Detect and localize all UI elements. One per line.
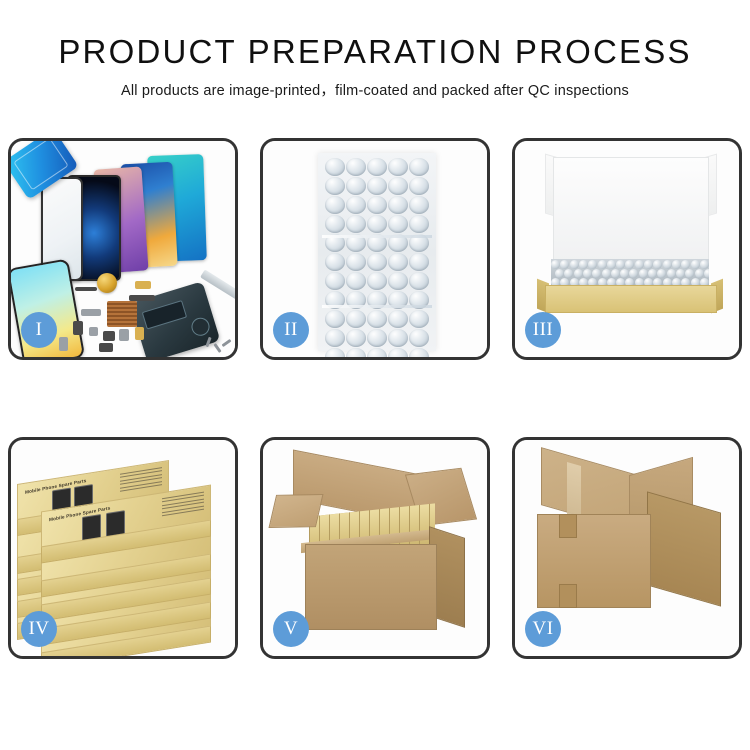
part-bracket: [81, 309, 101, 316]
page-subtitle: All products are image-printed，film-coat…: [0, 79, 750, 100]
part-vibrator: [99, 343, 113, 352]
part-camera-module: [119, 329, 129, 341]
part-strip: [75, 287, 97, 291]
part-connector-a: [73, 321, 83, 335]
step-badge-4: IV: [21, 611, 57, 647]
pouch-seam-bottom: [322, 305, 432, 308]
bubble-wrap-pouch: [318, 153, 436, 351]
pouch-seam-top: [322, 235, 432, 238]
step-panel-1: I: [8, 138, 238, 360]
carton-tab-bottom: [559, 584, 577, 608]
step-badge-1: I: [21, 312, 57, 348]
box-lid-back: [553, 157, 709, 263]
step-image-bubble-wrap: II: [263, 141, 487, 357]
part-connector-c: [103, 331, 115, 341]
part-shield-mesh: [107, 301, 137, 327]
step-panel-3: III: [512, 138, 742, 360]
spec-lines-2: [162, 492, 204, 519]
carton-flap-left: [268, 494, 323, 528]
step-badge-5: V: [273, 611, 309, 647]
part-battery-tab: [135, 327, 144, 340]
infographic-page: PRODUCT PREPARATION PROCESS All products…: [0, 0, 750, 750]
carton-tab-top: [559, 514, 577, 538]
process-grid: I II III: [8, 138, 742, 659]
sealed-carton-front: [537, 514, 651, 608]
part-flex-gold: [135, 281, 151, 289]
header: PRODUCT PREPARATION PROCESS All products…: [0, 0, 750, 100]
step-badge-3: III: [525, 312, 561, 348]
page-title: PRODUCT PREPARATION PROCESS: [0, 34, 750, 70]
step-image-inner-box: III: [515, 141, 739, 357]
step-image-boxed-stack: Mobile Phone Spare Parts: [11, 440, 235, 656]
step-image-carton-filling: V: [263, 440, 487, 656]
retail-box-label-2: Mobile Phone Spare Parts: [49, 505, 111, 522]
step-panel-5: V: [260, 437, 490, 659]
step-image-carton-sealed: VI: [515, 440, 739, 656]
sealed-carton-side-right: [647, 491, 721, 606]
carton-body-front: [305, 544, 437, 630]
bubble-grid: [325, 158, 429, 346]
part-flex-cable: [129, 295, 155, 301]
step-panel-6: VI: [512, 437, 742, 659]
step-badge-2: II: [273, 312, 309, 348]
box-front-kraft: [545, 285, 717, 313]
step-badge-6: VI: [525, 611, 561, 647]
step-panel-2: II: [260, 138, 490, 360]
part-sim-tray: [59, 337, 68, 351]
spec-lines-1: [120, 467, 162, 494]
step-panel-4: Mobile Phone Spare Parts: [8, 437, 238, 659]
part-connector-b: [89, 327, 98, 336]
step-image-products: I: [11, 141, 235, 357]
speaker-coil-part: [97, 273, 117, 293]
box-contents-bubble: [551, 259, 709, 287]
